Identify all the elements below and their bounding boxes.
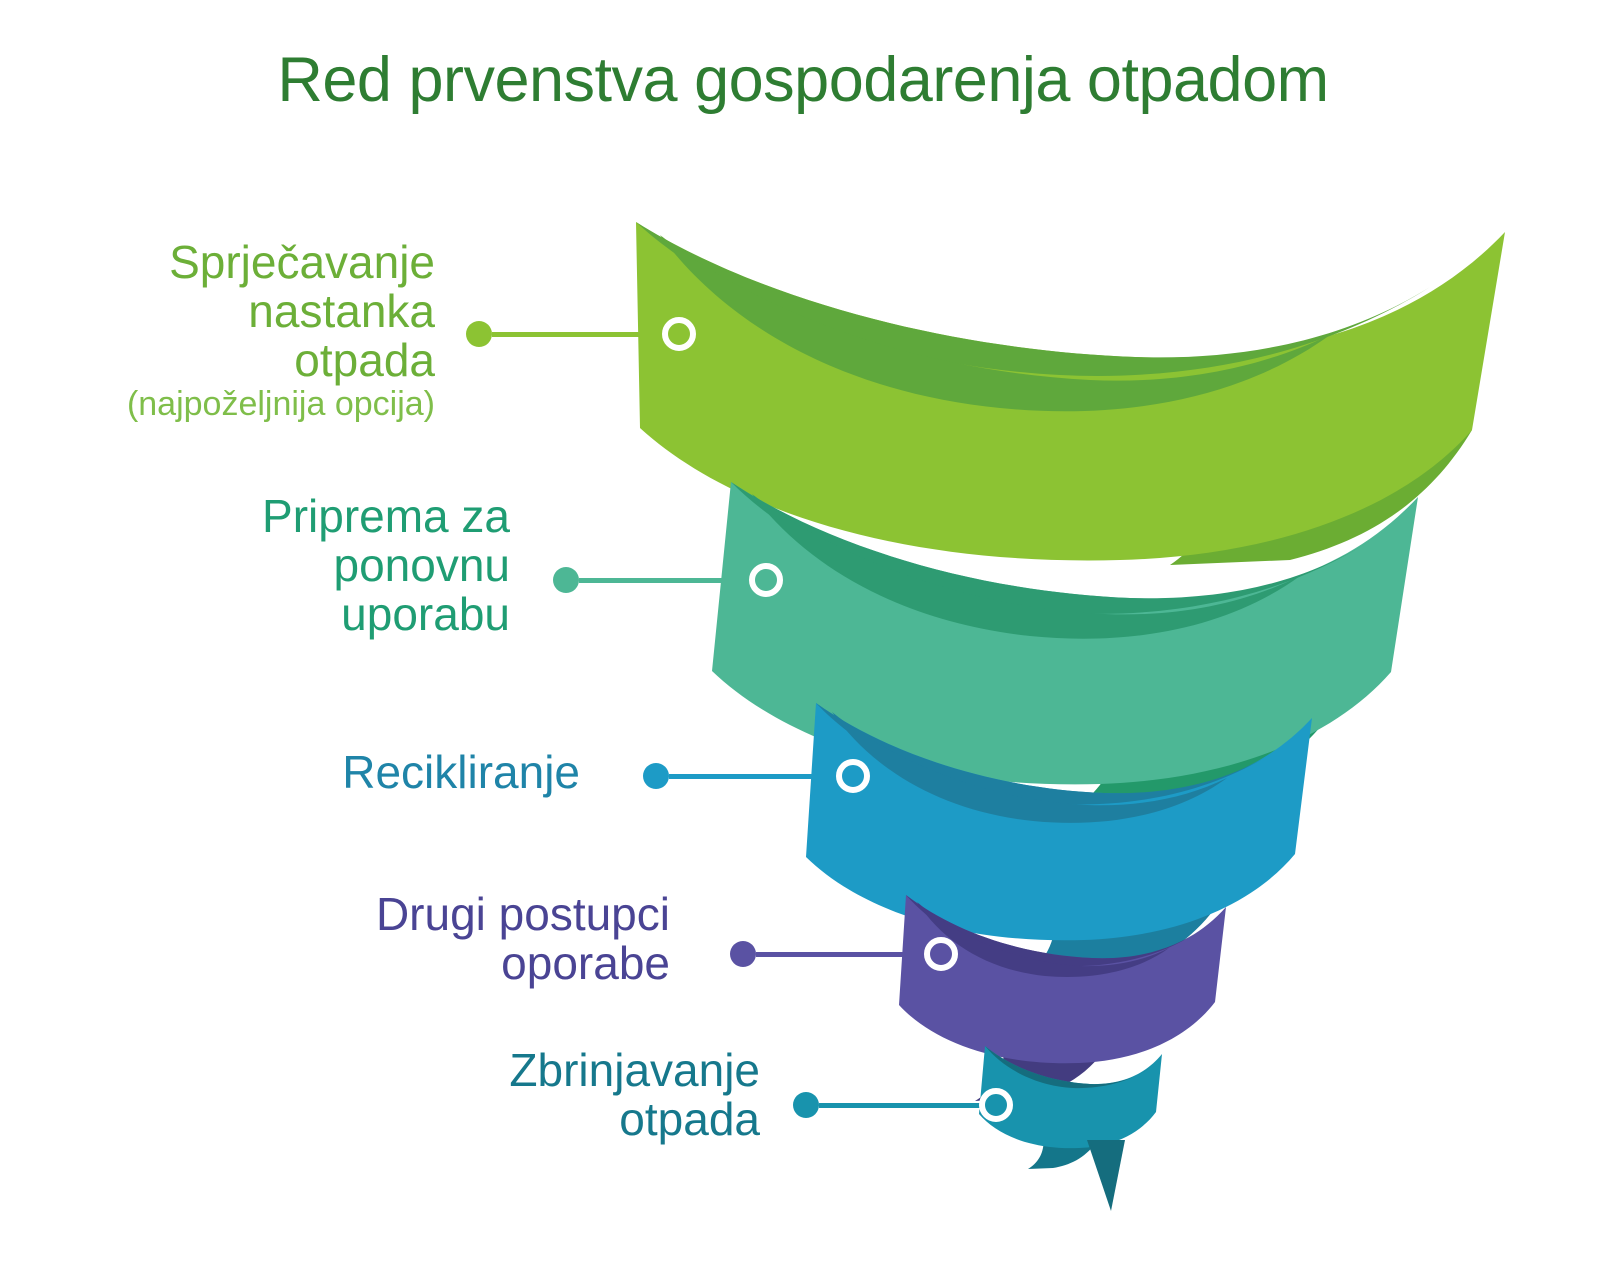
label-disposal-text: Zbrinjavanje otpada — [260, 1046, 760, 1144]
connector-end-dot-icon — [924, 937, 958, 971]
connector-disposal — [793, 1088, 1013, 1122]
connector-line — [756, 952, 926, 957]
connector-line — [492, 332, 664, 337]
label-prevention-sublabel: (najpoželjnija opcija) — [10, 386, 435, 422]
connector-start-dot-icon — [466, 321, 492, 347]
label-other-recovery-text: Drugi postupci oporabe — [160, 890, 670, 988]
connector-start-dot-icon — [730, 941, 756, 967]
label-reuse-preparation: Priprema za ponovnu uporabu — [60, 492, 510, 638]
label-reuse-preparation-text: Priprema za ponovnu uporabu — [60, 492, 510, 638]
connector-recycling — [643, 759, 870, 793]
infographic-canvas: Red prvenstva gospodarenja otpadom — [0, 0, 1606, 1273]
label-disposal: Zbrinjavanje otpada — [260, 1046, 760, 1144]
connector-other-recovery — [730, 937, 958, 971]
label-recycling-text: Recikliranje — [110, 748, 580, 797]
connector-reuse-preparation — [553, 563, 783, 597]
connector-prevention — [466, 317, 696, 351]
connector-end-dot-icon — [836, 759, 870, 793]
connector-end-dot-icon — [662, 317, 696, 351]
connector-line — [819, 1103, 981, 1108]
label-recycling: Recikliranje — [110, 748, 580, 797]
funnel-bottom-tip — [1087, 1140, 1125, 1211]
label-prevention: Sprječavanje nastanka otpada (najpoželjn… — [10, 238, 435, 422]
connector-start-dot-icon — [553, 567, 579, 593]
connector-line — [579, 578, 751, 583]
connector-end-dot-icon — [979, 1088, 1013, 1122]
connector-end-dot-icon — [749, 563, 783, 597]
connector-start-dot-icon — [643, 763, 669, 789]
connector-line — [669, 774, 838, 779]
label-other-recovery: Drugi postupci oporabe — [160, 890, 670, 988]
connector-start-dot-icon — [793, 1092, 819, 1118]
label-prevention-text: Sprječavanje nastanka otpada — [10, 238, 435, 384]
